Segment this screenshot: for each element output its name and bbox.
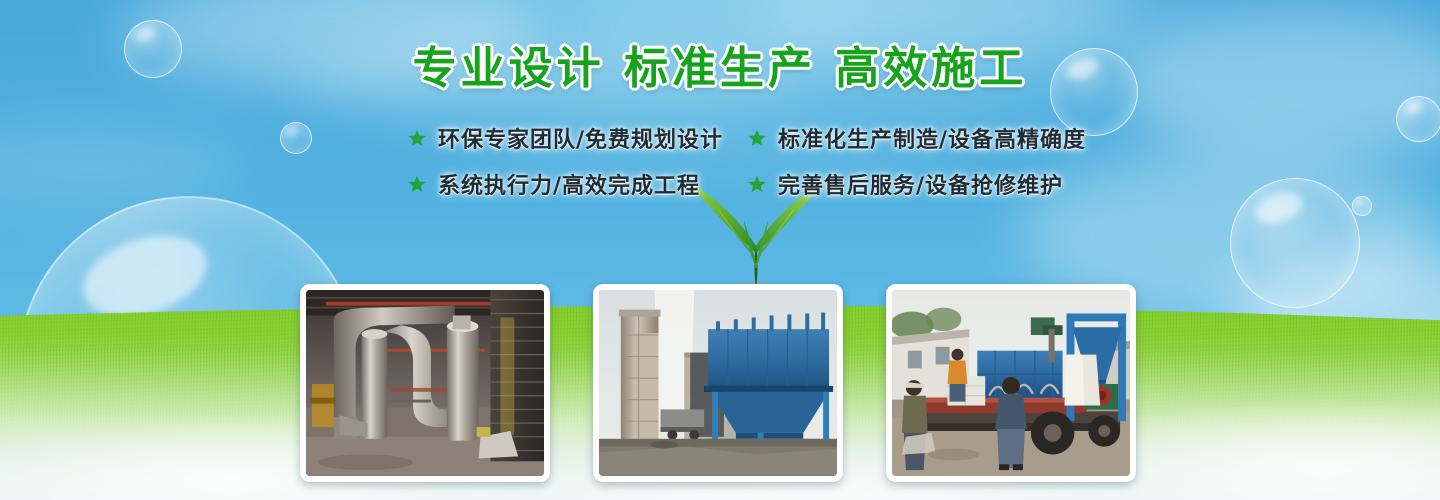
star-icon [748, 129, 766, 147]
photo-factory-ductwork [306, 290, 544, 476]
promo-banner: 专业设计 标准生产 高效施工 环保专家团队/免费规划设计 标准化生产制造/设备高… [0, 0, 1440, 500]
bullet-item-1: 环保专家团队/免费规划设计 [408, 122, 748, 154]
bullet-item-label: 系统执行力/高效完成工程 [438, 168, 700, 200]
photo-card-3[interactable] [886, 284, 1136, 482]
photo-card-row [300, 284, 1136, 482]
bullet-item-label: 标准化生产制造/设备高精确度 [778, 122, 1086, 154]
photo-dust-collector [599, 290, 837, 476]
bullet-item-4: 完善售后服务/设备抢修维护 [748, 168, 1108, 200]
feature-bullet-list: 环保专家团队/免费规划设计 标准化生产制造/设备高精确度 系统执行力/高效完成工… [408, 122, 1108, 200]
bullet-item-label: 环保专家团队/免费规划设计 [438, 122, 723, 154]
photo-card-1[interactable] [300, 284, 550, 482]
banner-headline: 专业设计 标准生产 高效施工 [0, 32, 1440, 96]
bullet-item-label: 完善售后服务/设备抢修维护 [778, 168, 1063, 200]
bullet-item-2: 标准化生产制造/设备高精确度 [748, 122, 1108, 154]
star-icon [748, 175, 766, 193]
star-icon [408, 129, 426, 147]
bullet-item-3: 系统执行力/高效完成工程 [408, 168, 748, 200]
photo-equipment-loading [892, 290, 1130, 476]
star-icon [408, 175, 426, 193]
photo-card-2[interactable] [593, 284, 843, 482]
